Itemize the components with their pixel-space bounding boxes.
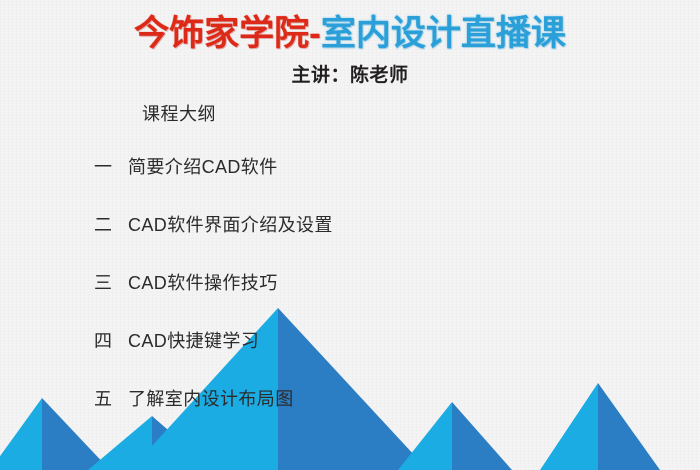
list-item: 一 简要介绍CAD软件 <box>94 153 614 211</box>
outline-list: 一 简要介绍CAD软件 二 CAD软件界面介绍及设置 三 CAD软件操作技巧 四… <box>94 153 614 443</box>
list-item-index: 五 <box>94 385 128 411</box>
list-item-label: 简要介绍CAD软件 <box>128 153 278 179</box>
outline-heading: 课程大纲 <box>142 100 216 126</box>
list-item-label: CAD软件界面介绍及设置 <box>128 211 333 237</box>
list-item-index: 一 <box>94 153 128 179</box>
list-item-index: 二 <box>94 211 128 237</box>
list-item: 四 CAD快捷键学习 <box>94 327 614 385</box>
list-item-index: 四 <box>94 327 128 353</box>
list-item: 三 CAD软件操作技巧 <box>94 269 614 327</box>
slide-content: 今饰家学院-室内设计直播课 主讲：陈老师 课程大纲 一 简要介绍CAD软件 二 … <box>0 0 700 470</box>
title-brand-segment: 今饰家学院- <box>134 14 321 53</box>
list-item: 五 了解室内设计布局图 <box>94 385 614 443</box>
slide-canvas: 今饰家学院-室内设计直播课 主讲：陈老师 课程大纲 一 简要介绍CAD软件 二 … <box>0 0 700 470</box>
list-item: 二 CAD软件界面介绍及设置 <box>94 211 614 269</box>
list-item-label: CAD快捷键学习 <box>128 327 259 353</box>
list-item-label: CAD软件操作技巧 <box>128 269 278 295</box>
title-topic-segment: 室内设计直播课 <box>321 14 566 53</box>
slide-subtitle-presenter: 主讲：陈老师 <box>0 60 700 87</box>
list-item-index: 三 <box>94 269 128 295</box>
slide-title: 今饰家学院-室内设计直播课 <box>0 12 700 56</box>
list-item-label: 了解室内设计布局图 <box>128 385 294 411</box>
